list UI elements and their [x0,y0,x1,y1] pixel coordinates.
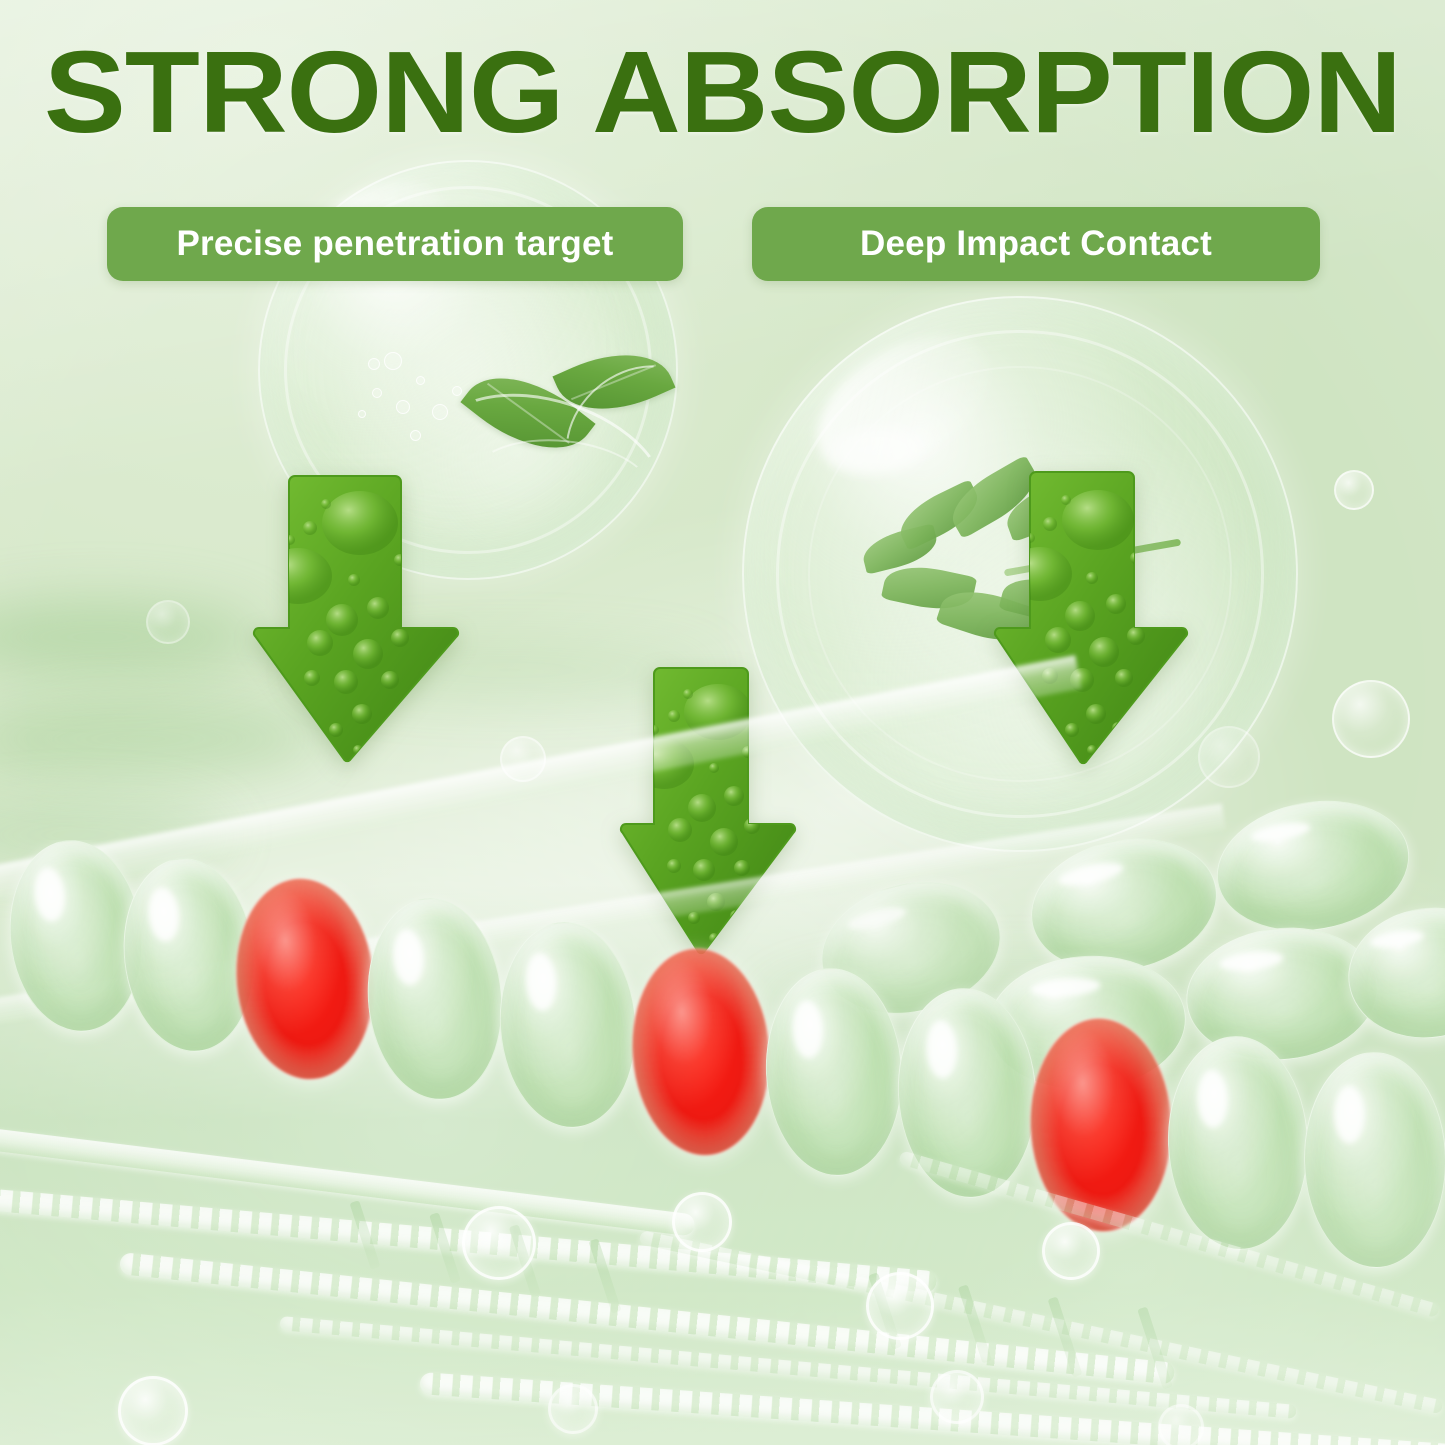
small-bubble [1334,470,1374,510]
badge-deep-impact-contact[interactable]: Deep Impact Contact [752,207,1320,281]
cell-highlight [1334,1085,1365,1144]
cell-highlight [925,1020,958,1079]
water-droplet [410,430,421,441]
cell-highlight [1196,1069,1228,1128]
cell [493,918,643,1133]
water-droplet [416,376,425,385]
water-bubble [462,1206,536,1280]
cell-highlight [32,866,67,923]
water-droplet [372,388,382,398]
water-bubble [930,1370,984,1424]
bubble-highlight-secondary [832,426,922,474]
water-bubble [548,1384,598,1434]
cell [1164,1034,1311,1253]
small-bubble [1332,680,1410,758]
water-bubble [1158,1404,1204,1445]
water-bubble [1042,1222,1100,1280]
water-droplet [358,410,366,418]
cell-inflamed [227,872,382,1085]
badge-precise-penetration-target[interactable]: Precise penetration target [107,207,683,281]
product-infographic: STRONG ABSORPTION Precise penetration ta… [0,0,1445,1445]
absorption-arrow-right [992,464,1208,770]
water-bubble [866,1272,934,1340]
cell [1302,1051,1445,1269]
cell [359,893,510,1106]
page-title: STRONG ABSORPTION [0,34,1445,150]
cell-highlight [391,928,426,986]
cell-highlight [524,952,558,1012]
cell-highlight [146,886,181,943]
water-droplet [396,400,410,414]
water-bubble [118,1376,188,1445]
cell-inflamed [625,943,777,1160]
cell-highlight [791,1000,824,1059]
water-droplet [384,352,402,370]
small-bubble [146,600,190,644]
badge-label: Deep Impact Contact [860,224,1212,264]
absorption-arrow-left [250,468,480,768]
water-bubble [672,1192,732,1252]
water-droplet [452,386,462,396]
badge-label: Precise penetration target [176,224,613,264]
water-droplet [368,358,380,370]
cell [761,965,908,1180]
water-droplet [432,404,448,420]
